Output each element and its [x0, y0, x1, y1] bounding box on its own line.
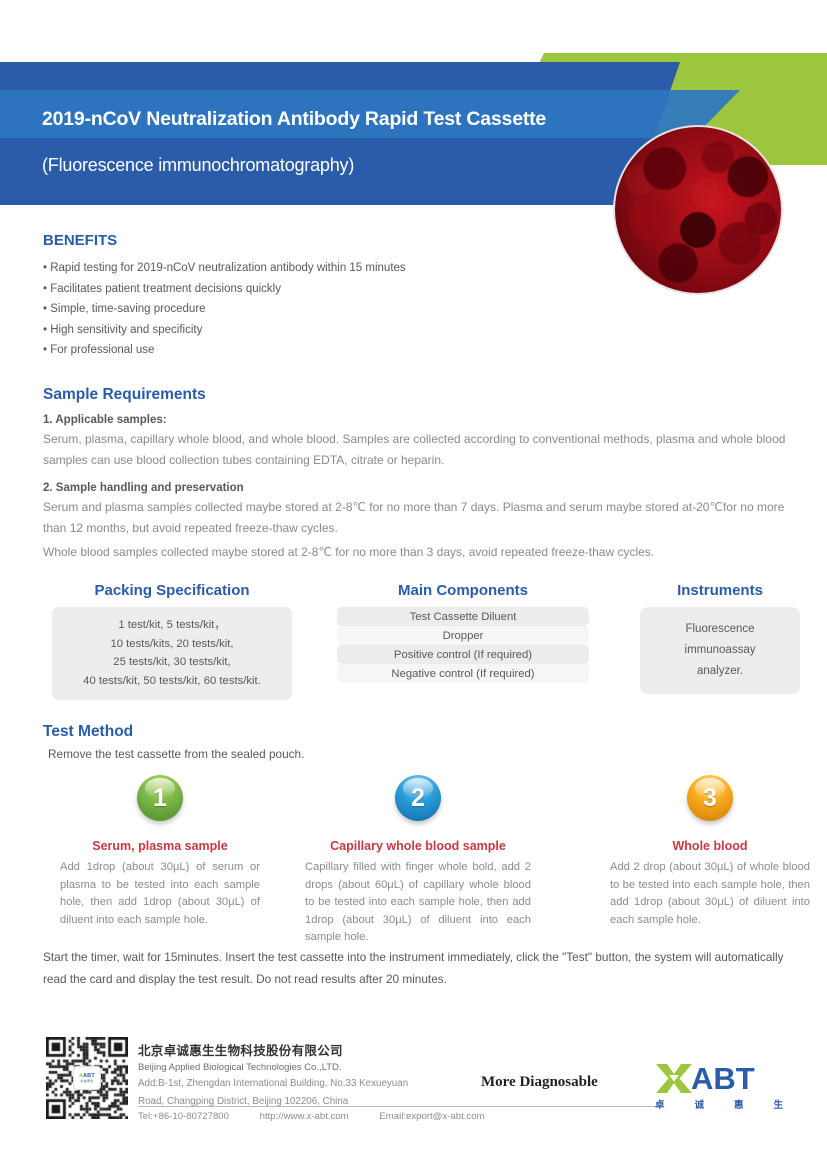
instrument-line: analyzer.: [648, 661, 792, 682]
main-components-title: Main Components: [337, 582, 589, 599]
packing-specification-column: Packing Specification 1 test/kit, 5 test…: [52, 582, 292, 700]
header-banner: 2019-nCoV Neutralization Antibody Rapid …: [0, 0, 827, 205]
logo-cn-char: 惠: [734, 1097, 744, 1111]
qr-center-logo: XABT 卓诚惠生: [74, 1067, 100, 1089]
logo-row: ABT: [655, 1061, 785, 1095]
applicable-samples-text: Serum, plasma, capillary whole blood, an…: [43, 429, 791, 471]
packing-line: 1 test/kit, 5 tests/kit，: [58, 616, 286, 635]
company-address-line1: Add:B-1st, Zhengdan International Buildi…: [138, 1076, 498, 1091]
company-block: 北京卓诚惠生生物科技股份有限公司 Beijing Applied Biologi…: [138, 1040, 498, 1109]
benefit-item: For professional use: [43, 340, 603, 361]
packing-line: 25 tests/kit, 30 tests/kit,: [58, 653, 286, 672]
qr-badge-cn: 卓诚惠生: [80, 1079, 94, 1083]
tagline: More Diagnosable: [481, 1074, 598, 1091]
test-method-heading: Test Method: [43, 723, 133, 741]
instruments-title: Instruments: [640, 582, 800, 599]
test-step-2: 2 Capillary whole blood sample Capillary…: [298, 775, 538, 947]
step-title: Capillary whole blood sample: [298, 839, 538, 853]
step-number-badge-1: 1: [137, 775, 183, 821]
benefits-list: Rapid testing for 2019-nCoV neutralizati…: [43, 258, 603, 361]
packing-line: 40 tests/kit, 50 tests/kit, 60 tests/kit…: [58, 672, 286, 691]
test-method-closing: Start the timer, wait for 15minutes. Ins…: [43, 946, 793, 990]
benefits-heading: BENEFITS: [43, 232, 117, 249]
benefit-item: Facilitates patient treatment decisions …: [43, 279, 603, 300]
instruments-box: Fluorescence immunoassay analyzer.: [640, 607, 800, 694]
footer-divider: [138, 1106, 658, 1107]
sample-requirements-heading: Sample Requirements: [43, 386, 206, 404]
instrument-line: immunoassay: [648, 640, 792, 661]
logo-text: ABT: [691, 1063, 755, 1094]
benefit-item: Rapid testing for 2019-nCoV neutralizati…: [43, 258, 603, 279]
main-components-list: Test Cassette Diluent Dropper Positive c…: [337, 607, 589, 683]
component-row: Negative control (If required): [337, 664, 589, 683]
company-website[interactable]: http://www.x-abt.com: [260, 1111, 349, 1122]
logo-cn-char: 生: [773, 1097, 783, 1111]
logo-cn-char: 卓: [655, 1097, 665, 1111]
handling-text-b: Whole blood samples collected maybe stor…: [43, 542, 791, 563]
applicable-samples-label: 1. Applicable samples:: [43, 414, 791, 426]
packing-line: 10 tests/kits, 20 tests/kit,: [58, 635, 286, 654]
spec-columns: Packing Specification 1 test/kit, 5 test…: [0, 582, 827, 692]
test-step-3: 3 Whole blood Add 2 drop (about 30μL) of…: [590, 775, 827, 929]
company-contact: Tel:+86-10-80727800 http://www.x-abt.com…: [138, 1111, 558, 1122]
handling-text-a: Serum and plasma samples collected maybe…: [43, 497, 791, 539]
company-tel: Tel:+86-10-80727800: [138, 1111, 229, 1122]
step-title: Whole blood: [590, 839, 827, 853]
datasheet-page: 2019-nCoV Neutralization Antibody Rapid …: [0, 0, 827, 1170]
abt-logo: ABT 卓 诚 惠 生: [655, 1061, 785, 1111]
instruments-column: Instruments Fluorescence immunoassay ana…: [640, 582, 800, 694]
step-body: Add 2 drop (about 30μL) of whole blood t…: [610, 859, 810, 929]
step-number-badge-3: 3: [687, 775, 733, 821]
component-row: Dropper: [337, 626, 589, 645]
company-name-en: Beijing Applied Biological Technologies …: [138, 1062, 498, 1073]
logo-cn-char: 诚: [694, 1097, 704, 1111]
packing-box: 1 test/kit, 5 tests/kit， 10 tests/kits, …: [52, 607, 292, 700]
instrument-line: Fluorescence: [648, 619, 792, 640]
step-number: 1: [153, 784, 167, 813]
logo-cn-row: 卓 诚 惠 生: [655, 1097, 783, 1111]
page-subtitle: (Fluorescence immunochromatography): [42, 155, 642, 176]
step-body: Capillary filled with finger whole bold,…: [305, 859, 531, 947]
step-number: 3: [703, 784, 717, 813]
step-number-badge-2: 2: [395, 775, 441, 821]
page-title: 2019-nCoV Neutralization Antibody Rapid …: [42, 108, 642, 131]
main-components-column: Main Components Test Cassette Diluent Dr…: [337, 582, 589, 683]
packing-title: Packing Specification: [52, 582, 292, 599]
benefit-item: High sensitivity and specificity: [43, 320, 603, 341]
component-row: Positive control (If required): [337, 645, 589, 664]
blood-cells-image: [613, 125, 783, 295]
test-method-lead: Remove the test cassette from the sealed…: [48, 747, 304, 761]
component-row: Test Cassette Diluent: [337, 607, 589, 626]
sample-requirements-body: 1. Applicable samples: Serum, plasma, ca…: [43, 412, 791, 563]
company-name-cn: 北京卓诚惠生生物科技股份有限公司: [138, 1040, 498, 1059]
handling-preservation-label: 2. Sample handling and preservation: [43, 482, 791, 494]
step-title: Serum, plasma sample: [40, 839, 280, 853]
company-email[interactable]: Email:export@x-abt.com: [379, 1111, 484, 1122]
test-step-1: 1 Serum, plasma sample Add 1drop (about …: [40, 775, 280, 929]
qr-code-icon: XABT 卓诚惠生: [46, 1037, 128, 1119]
step-body: Add 1drop (about 30μL) of serum or plasm…: [60, 859, 260, 929]
benefit-item: Simple, time-saving procedure: [43, 299, 603, 320]
logo-x-icon: [655, 1062, 693, 1094]
step-number: 2: [411, 784, 425, 813]
